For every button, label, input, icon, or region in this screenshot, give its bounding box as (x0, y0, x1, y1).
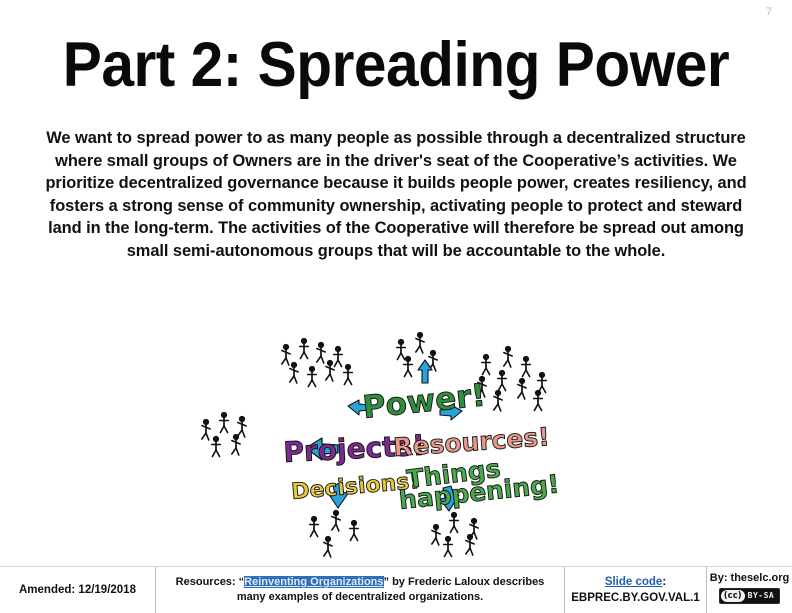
slide-code-value: EBPREC.BY.GOV.VAL.1 (571, 590, 699, 606)
cc-license-label: BY-SA (745, 592, 779, 600)
footer-amended-cell: Amended: 12/19/2018 (0, 567, 156, 613)
slide-number: 7 (766, 6, 772, 18)
reinventing-organizations-link[interactable]: Reinventing Organizations (244, 576, 383, 588)
illustration-canvas: Power! Projects! Resources! Decisions! T… (186, 296, 606, 568)
page-title: Part 2: Spreading Power (28, 34, 765, 97)
figure-cluster-right (478, 346, 547, 411)
figure-cluster-bottom-right (432, 512, 478, 557)
figure-cluster-left (202, 412, 246, 457)
creative-commons-badge[interactable]: (cc) BY-SA (719, 588, 780, 604)
resources-prefix: Resources: “ (176, 576, 244, 588)
footer-resources-cell: Resources: “Reinventing Organizations” b… (156, 567, 565, 613)
slide-code-link[interactable]: Slide code (605, 576, 663, 588)
decentralized-groups-illustration: Power! Projects! Resources! Decisions! T… (186, 296, 606, 568)
slide-body-text: We want to spread power to as many peopl… (36, 127, 756, 262)
resources-text: Resources: “Reinventing Organizations” b… (164, 575, 556, 605)
amended-date: Amended: 12/19/2018 (19, 584, 136, 596)
arrow-up-center (418, 360, 432, 383)
figure-cluster-upper-left (282, 338, 353, 387)
figure-cluster-bottom-left (310, 510, 359, 557)
slide-footer: Amended: 12/19/2018 Resources: “Reinvent… (0, 566, 792, 613)
illustration-word-power: Power! (361, 377, 487, 426)
footer-slide-code-cell: Slide code: EBPREC.BY.GOV.VAL.1 (565, 567, 707, 613)
attribution-label: By: theselc.org (710, 572, 789, 584)
slide-code-colon: : (662, 576, 666, 588)
footer-attribution-cell: By: theselc.org (cc) BY-SA (707, 567, 792, 613)
slide-code-heading: Slide code: (605, 574, 666, 590)
cc-icon: (cc) (721, 590, 745, 602)
